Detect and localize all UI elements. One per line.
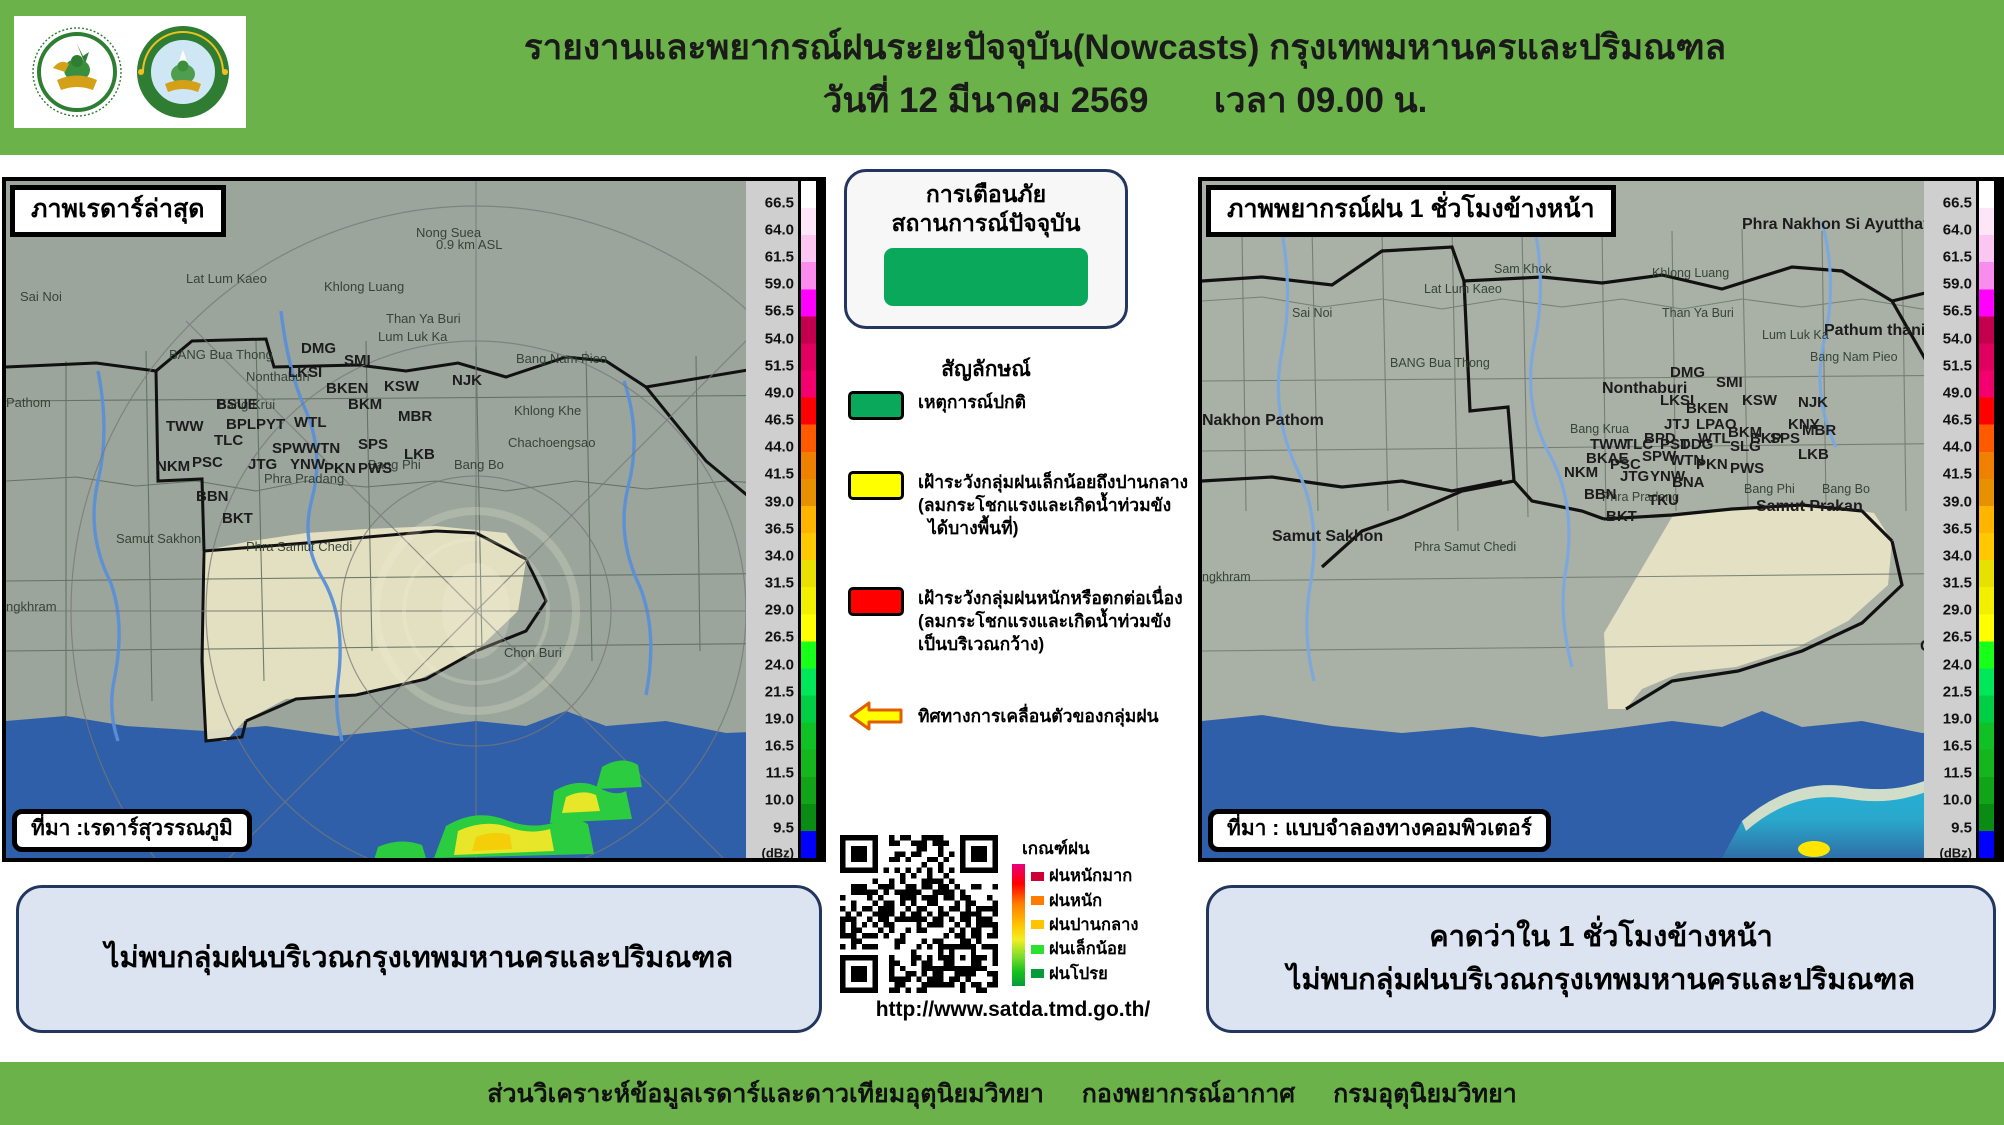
svg-text:PYT: PYT (256, 416, 285, 433)
scale-tick: 34.0 (1943, 547, 1972, 564)
scale-tick: 64.0 (765, 221, 794, 238)
scale-tick: 29.0 (765, 602, 794, 619)
report-date: วันที่ 12 มีนาคม 2569 (823, 81, 1149, 120)
center-legend-column: การเตือนภัย สถานการณ์ปัจจุบัน สัญลักษณ์ … (830, 155, 1196, 1057)
footer-part3: กรมอุตุนิยมวิทยา (1333, 1080, 1517, 1108)
footer-part1: ส่วนวิเคราะห์ข้อมูลเรดาร์และดาวเทียมอุตุ… (487, 1080, 1044, 1108)
thai-meteorological-department-seal (133, 22, 233, 122)
forecast-map-panel[interactable]: Suphan Buri Phra Nakhon Si Ayutthaya Nak… (1198, 177, 2004, 862)
svg-text:LKB: LKB (1798, 446, 1829, 463)
rain-scale-item: ฝนหนักมาก (1031, 864, 1138, 888)
forecast-map-source: ที่มา : แบบจำลองทางคอมพิวเตอร์ (1208, 809, 1551, 852)
svg-text:Samut Sakhon: Samut Sakhon (116, 531, 201, 546)
legend-item-watch-light-text: เฝ้าระวังกลุ่มฝนเล็กน้อยถึงปานกลาง (ลมกร… (918, 471, 1188, 539)
scale-tick: 9.5 (773, 819, 794, 836)
scale-tick: 36.5 (1943, 520, 1972, 537)
rain-scale-item: ฝนปานกลาง (1031, 913, 1138, 937)
scale-tick: 16.5 (765, 738, 794, 755)
scale-tick: 41.5 (765, 466, 794, 483)
svg-text:BKT: BKT (1606, 508, 1637, 525)
svg-text:JTG: JTG (1620, 468, 1649, 485)
scale-tick: 11.5 (1944, 765, 1972, 782)
svg-text:TWW: TWW (166, 418, 204, 435)
svg-text:Lum Luk Ka: Lum Luk Ka (378, 329, 448, 344)
svg-text:TKU: TKU (1648, 492, 1679, 509)
radar-map-source: ที่มา :เรดาร์สุวรรณภูมิ (12, 809, 252, 852)
scale-tick: 66.5 (765, 194, 794, 211)
rain-scale-item: ฝนหนัก (1031, 888, 1138, 912)
svg-text:0.9 km ASL: 0.9 km ASL (436, 237, 502, 252)
warning-title-line1: การเตือนภัย (926, 180, 1046, 209)
scale-tick: 41.5 (1943, 466, 1972, 483)
header-titles: รายงานและพยากรณ์ฝนระยะปัจจุบัน(Nowcasts)… (300, 26, 1950, 124)
scale-tick: 44.0 (765, 439, 794, 456)
svg-text:Pathom: Pathom (6, 395, 51, 410)
forecast-map-title: ภาพพยากรณ์ฝน 1 ชั่วโมงข้างหน้า (1206, 185, 1616, 237)
svg-text:SMI: SMI (1716, 374, 1743, 391)
svg-text:MBR: MBR (398, 408, 432, 425)
radar-scale-labels: 66.564.061.559.056.554.051.549.046.544.0… (746, 181, 798, 858)
scale-unit: (dBz) (762, 845, 795, 860)
scale-tick: 21.5 (1943, 683, 1972, 700)
svg-text:WTL: WTL (1698, 430, 1730, 447)
page-header: รายงานและพยากรณ์ฝนระยะปัจจุบัน(Nowcasts)… (0, 0, 2004, 155)
svg-text:Khlong Khe: Khlong Khe (514, 403, 581, 418)
rain-scale-item: ฝนเล็กน้อย (1031, 937, 1138, 961)
svg-text:Lat Lum Kaeo: Lat Lum Kaeo (1424, 282, 1502, 296)
svg-text:Bang Nam Pieo: Bang Nam Pieo (1810, 350, 1898, 364)
svg-text:NJK: NJK (1798, 394, 1828, 411)
svg-text:Khlong Luang: Khlong Luang (324, 279, 404, 294)
scale-tick: 64.0 (1943, 221, 1972, 238)
legend-item-movement-direction: ทิศทางการเคลื่อนตัวของกลุ่มฝน (848, 700, 1159, 732)
svg-text:Chachoengsao: Chachoengsao (508, 435, 595, 450)
scale-tick: 49.0 (1943, 384, 1972, 401)
svg-text:Sam Khok: Sam Khok (1494, 262, 1552, 276)
svg-text:PWS: PWS (1730, 460, 1764, 477)
legend-item-watch-heavy: เฝ้าระวังกลุ่มฝนหนักหรือตกต่อเนื่อง (ลมก… (848, 587, 1183, 655)
svg-text:NJK: NJK (452, 372, 482, 389)
scale-tick: 39.0 (765, 493, 794, 510)
svg-text:BKT: BKT (222, 510, 253, 527)
svg-text:Bang Krua: Bang Krua (1570, 422, 1629, 436)
svg-text:Bang Phi: Bang Phi (1744, 482, 1795, 496)
report-datetime: วันที่ 12 มีนาคม 2569 เวลา 09.00 น. (300, 77, 1950, 124)
svg-text:SPS: SPS (358, 436, 388, 453)
svg-text:Phra Samut Chedi: Phra Samut Chedi (1414, 540, 1516, 554)
svg-text:JTG: JTG (248, 456, 277, 473)
radar-scale-bar (798, 181, 822, 858)
scale-tick: 44.0 (1943, 439, 1972, 456)
svg-text:KSW: KSW (1742, 392, 1778, 409)
scale-tick: 29.0 (1943, 602, 1972, 619)
rain-intensity-scale: เกณฑ์ฝน ฝนหนักมากฝนหนักฝนปานกลางฝนเล็กน้… (1012, 835, 1192, 986)
scale-tick: 19.0 (765, 710, 794, 727)
rain-scale-swatch (1031, 945, 1044, 954)
scale-tick: 31.5 (765, 575, 794, 592)
scale-tick: 59.0 (1943, 276, 1972, 293)
yellow-swatch (848, 471, 904, 500)
svg-text:PKN: PKN (1696, 456, 1728, 473)
royal-irrigation-seal (27, 22, 127, 122)
warning-status-card: การเตือนภัย สถานการณ์ปัจจุบัน (844, 169, 1128, 329)
svg-text:SPW: SPW (272, 440, 307, 457)
scale-unit: (dBz) (1940, 845, 1973, 860)
qr-code-satda-tmd[interactable] (840, 835, 998, 993)
svg-text:DMG: DMG (301, 340, 336, 357)
scale-tick: 26.5 (1943, 629, 1972, 646)
legend-item-normal: เหตุการณ์ปกติ (848, 391, 1026, 420)
rain-scale-swatch (1031, 969, 1044, 978)
svg-text:BBN: BBN (196, 488, 229, 505)
forecast-scale-bar (1976, 181, 2000, 858)
scale-tick: 16.5 (1943, 738, 1972, 755)
report-title: รายงานและพยากรณ์ฝนระยะปัจจุบัน(Nowcasts)… (300, 26, 1950, 71)
rain-scale-label: ฝนหนักมาก (1049, 863, 1132, 889)
radar-map-panel[interactable]: Nong Suea Khlong Luang Lat Lum Kaeo Sai … (2, 177, 826, 862)
footer-part2: กองพยากรณ์อากาศ (1082, 1080, 1295, 1108)
svg-text:SMI: SMI (344, 352, 371, 369)
svg-text:ngkhram: ngkhram (1202, 570, 1251, 584)
svg-text:TLC: TLC (214, 432, 243, 449)
svg-text:Phra Nakhon Si Ayutthaya: Phra Nakhon Si Ayutthaya (1742, 216, 1941, 233)
radar-color-scale: 66.564.061.559.056.554.051.549.046.544.0… (746, 181, 822, 858)
svg-text:Bang Bo: Bang Bo (1822, 482, 1870, 496)
forecast-map-canvas[interactable]: Suphan Buri Phra Nakhon Si Ayutthaya Nak… (1202, 181, 2000, 858)
rain-scale-swatch (1031, 896, 1044, 905)
svg-text:Chon Buri: Chon Buri (504, 645, 562, 660)
green-swatch (848, 391, 904, 420)
legend-item-watch-heavy-text: เฝ้าระวังกลุ่มฝนหนักหรือตกต่อเนื่อง (ลมก… (918, 587, 1183, 655)
svg-text:Samut Sakhon: Samut Sakhon (1272, 528, 1383, 545)
svg-text:ngkhram: ngkhram (6, 599, 57, 614)
svg-text:LKSI: LKSI (288, 364, 322, 381)
scale-tick: 54.0 (1943, 330, 1972, 347)
scale-tick: 24.0 (765, 656, 794, 673)
scale-tick: 31.5 (1943, 575, 1972, 592)
svg-text:PWS: PWS (358, 460, 392, 477)
current-status-indicator (884, 248, 1088, 306)
rain-scale-label: ฝนโปรย (1049, 961, 1108, 987)
rain-scale-swatch (1031, 920, 1044, 929)
scale-tick: 46.5 (765, 412, 794, 429)
svg-text:Bang Bo: Bang Bo (454, 457, 504, 472)
svg-text:BBN: BBN (1584, 486, 1617, 503)
rain-scale-items: ฝนหนักมากฝนหนักฝนปานกลางฝนเล็กน้อยฝนโปรย (1031, 864, 1138, 986)
scale-tick: 61.5 (765, 249, 794, 266)
svg-text:Khlong Luang: Khlong Luang (1652, 266, 1729, 280)
legend-arrow-label: ทิศทางการเคลื่อนตัวของกลุ่มฝน (918, 705, 1159, 728)
scale-tick: 11.5 (766, 765, 794, 782)
svg-text:NKM: NKM (1564, 464, 1598, 481)
forecast-status-line1: คาดว่าใน 1 ชั่วโมงข้างหน้า (1429, 916, 1773, 960)
rain-scale-gradient (1012, 864, 1025, 986)
nowcast-report-page: รายงานและพยากรณ์ฝนระยะปัจจุบัน(Nowcasts)… (0, 0, 2004, 1125)
radar-status-text: ไม่พบกลุ่มฝนบริเวณกรุงเทพมหานครและปริมณฑ… (105, 937, 733, 981)
svg-text:BSUE: BSUE (216, 396, 258, 413)
scale-tick: 19.0 (1943, 710, 1972, 727)
svg-text:BKEN: BKEN (326, 380, 369, 397)
report-time: เวลา 09.00 น. (1214, 81, 1427, 120)
website-url[interactable]: http://www.satda.tmd.go.th/ (830, 998, 1196, 1022)
forecast-status-box: คาดว่าใน 1 ชั่วโมงข้างหน้า ไม่พบกลุ่มฝนบ… (1206, 885, 1996, 1033)
svg-text:Lat Lum Kaeo: Lat Lum Kaeo (186, 271, 267, 286)
forecast-color-scale: 66.564.061.559.056.554.051.549.046.544.0… (1924, 181, 2000, 858)
svg-text:WTN: WTN (306, 440, 340, 457)
radar-map-title: ภาพเรดาร์ล่าสุด (10, 185, 226, 237)
scale-tick: 59.0 (765, 276, 794, 293)
svg-text:PKN: PKN (324, 460, 356, 477)
scale-tick: 51.5 (765, 357, 794, 374)
svg-text:Nakhon Pathom: Nakhon Pathom (1202, 412, 1324, 429)
body-area: Nong Suea Khlong Luang Lat Lum Kaeo Sai … (0, 155, 2004, 1057)
radar-status-box: ไม่พบกลุ่มฝนบริเวณกรุงเทพมหานครและปริมณฑ… (16, 885, 822, 1033)
scale-tick: 36.5 (765, 520, 794, 537)
scale-tick: 66.5 (1943, 194, 1972, 211)
scale-tick: 24.0 (1943, 656, 1972, 673)
scale-tick: 51.5 (1943, 357, 1972, 374)
svg-text:BKM: BKM (348, 396, 382, 413)
svg-text:SLG: SLG (1730, 438, 1761, 455)
svg-text:KSW: KSW (384, 378, 420, 395)
rain-scale-title: เกณฑ์ฝน (1022, 835, 1192, 862)
svg-text:YNW: YNW (290, 456, 326, 473)
legend-item-normal-text: เหตุการณ์ปกติ (918, 391, 1026, 414)
svg-text:BPL: BPL (226, 416, 256, 433)
rain-scale-label: ฝนเล็กน้อย (1049, 936, 1127, 962)
scale-tick: 49.0 (765, 384, 794, 401)
footer-text: ส่วนวิเคราะห์ข้อมูลเรดาร์และดาวเทียมอุตุ… (487, 1074, 1517, 1114)
radar-map-canvas[interactable]: Nong Suea Khlong Luang Lat Lum Kaeo Sai … (6, 181, 822, 858)
svg-text:BANG Bua Thong: BANG Bua Thong (169, 347, 273, 362)
rain-scale-swatch (1031, 872, 1044, 881)
page-footer: ส่วนวิเคราะห์ข้อมูลเรดาร์และดาวเทียมอุตุ… (0, 1062, 2004, 1125)
scale-tick: 10.0 (1943, 792, 1972, 809)
svg-text:NKM: NKM (156, 458, 190, 475)
svg-text:Pathum thani: Pathum thani (1824, 322, 1925, 339)
scale-tick: 61.5 (1943, 249, 1972, 266)
svg-text:Than Ya Buri: Than Ya Buri (386, 311, 461, 326)
red-swatch (848, 587, 904, 616)
svg-text:BKEN: BKEN (1686, 400, 1729, 417)
rain-scale-label: ฝนปานกลาง (1049, 912, 1138, 938)
svg-text:BANG Bua Thong: BANG Bua Thong (1390, 356, 1490, 370)
svg-text:Phra Samut Chedi: Phra Samut Chedi (246, 539, 352, 554)
svg-text:PSC: PSC (192, 454, 223, 471)
scale-tick: 21.5 (765, 683, 794, 700)
scale-tick: 9.5 (1951, 819, 1972, 836)
svg-text:MBR: MBR (1802, 422, 1836, 439)
svg-text:Samut Prakan: Samut Prakan (1756, 498, 1863, 515)
legend-item-watch-light: เฝ้าระวังกลุ่มฝนเล็กน้อยถึงปานกลาง (ลมกร… (848, 471, 1188, 539)
svg-text:DMG: DMG (1670, 364, 1705, 381)
scale-tick: 26.5 (765, 629, 794, 646)
legend-title: สัญลักษณ์ (844, 353, 1128, 386)
logo-box (14, 16, 246, 128)
svg-text:BNA: BNA (1672, 474, 1705, 491)
scale-tick: 56.5 (765, 303, 794, 320)
svg-text:LKB: LKB (404, 446, 435, 463)
warning-title-line2: สถานการณ์ปัจจุบัน (891, 209, 1080, 238)
svg-text:Than Ya Buri: Than Ya Buri (1662, 306, 1734, 320)
scale-tick: 56.5 (1943, 303, 1972, 320)
svg-text:Sai Noi: Sai Noi (1292, 306, 1332, 320)
forecast-scale-labels: 66.564.061.559.056.554.051.549.046.544.0… (1924, 181, 1976, 858)
rain-scale-label: ฝนหนัก (1049, 888, 1102, 914)
forecast-status-line2: ไม่พบกลุ่มฝนบริเวณกรุงเทพมหานครและปริมณฑ… (1287, 959, 1915, 1003)
scale-tick: 34.0 (765, 547, 794, 564)
left-arrow-icon (848, 700, 904, 732)
svg-text:Bang Nam Pieo: Bang Nam Pieo (516, 351, 607, 366)
scale-tick: 10.0 (765, 792, 794, 809)
scale-tick: 46.5 (1943, 412, 1972, 429)
svg-text:Sai Noi: Sai Noi (20, 289, 62, 304)
svg-text:Lum Luk Ka: Lum Luk Ka (1762, 328, 1829, 342)
rain-scale-item: ฝนโปรย (1031, 962, 1138, 986)
scale-tick: 54.0 (765, 330, 794, 347)
scale-tick: 39.0 (1943, 493, 1972, 510)
svg-text:WTL: WTL (294, 414, 326, 431)
